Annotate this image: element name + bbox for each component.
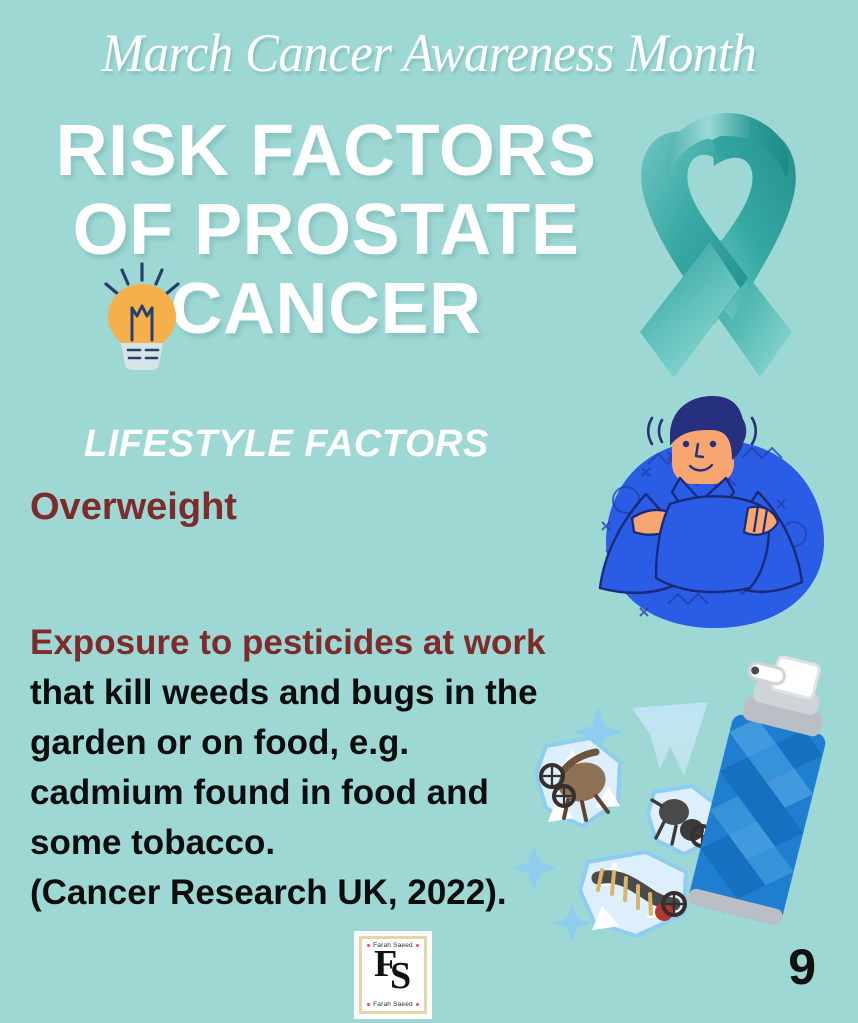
lightbulb-icon <box>88 256 198 371</box>
overweight-man-illustration <box>572 382 858 630</box>
factor-label-overweight: Overweight <box>30 486 237 529</box>
awareness-ribbon-icon <box>592 92 858 392</box>
body-rest: that kill weeds and bugs in the garden o… <box>30 673 538 862</box>
logo-frame: Farah Saeed F S Farah Saeed <box>359 936 427 1014</box>
logo-monogram-s: S <box>390 961 411 991</box>
section-heading-lifestyle-factors: LIFESTYLE FACTORS <box>84 423 489 466</box>
page-number: 9 <box>788 938 816 996</box>
logo-monogram: F S <box>370 953 416 997</box>
logo-caption-bottom: Farah Saeed <box>367 1001 419 1008</box>
brand-logo: Farah Saeed F S Farah Saeed <box>354 931 432 1019</box>
logo-dot-icon <box>416 944 419 947</box>
body-paragraph: Exposure to pesticides at work that kill… <box>30 618 570 918</box>
logo-dot-icon <box>416 1003 419 1006</box>
logo-dot-icon <box>367 1003 370 1006</box>
logo-caption-bottom-text: Farah Saeed <box>373 1001 413 1008</box>
title-line-1: RISK FACTORS <box>36 112 616 191</box>
logo-dot-icon <box>367 944 370 947</box>
awareness-month-header: March Cancer Awareness Month <box>26 22 833 84</box>
body-highlight: Exposure to pesticides at work <box>30 623 545 662</box>
body-citation: (Cancer Research UK, 2022). <box>30 873 507 912</box>
poster-canvas: March Cancer Awareness Month <box>0 0 858 1023</box>
